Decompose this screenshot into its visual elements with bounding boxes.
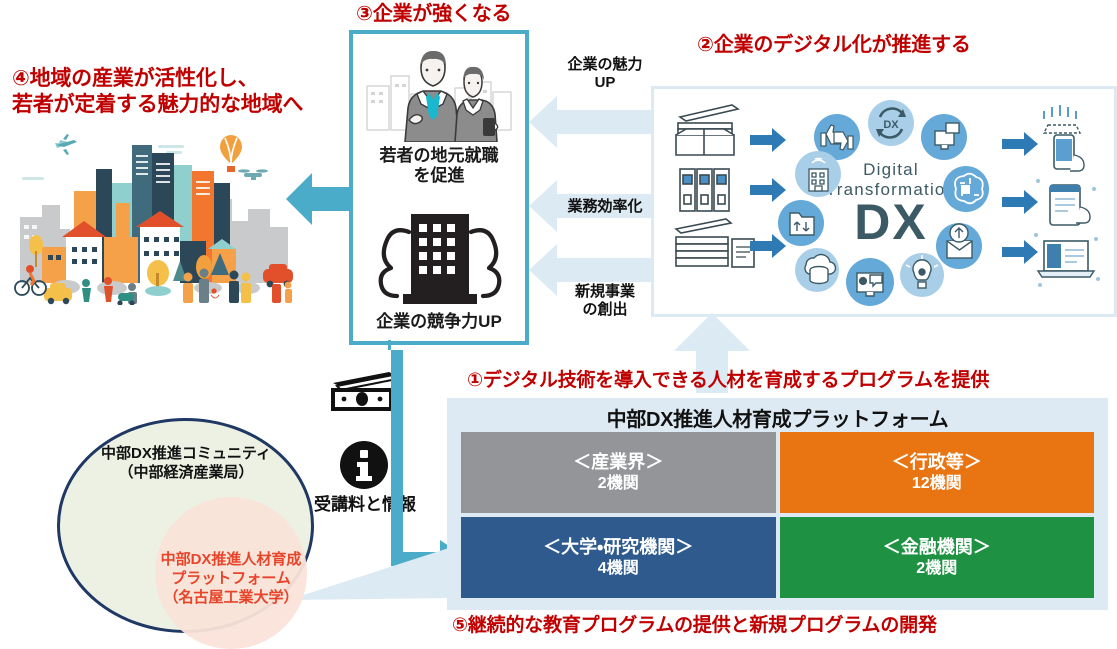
- heading-3: ③企業が強くなる: [356, 2, 511, 26]
- circle-platform-label: 中部DX推進人材育成 プラットフォーム （名古屋工業大学）: [120, 551, 342, 607]
- heading-5: ⑤継続的な教育プログラムの提供と新規プログラムの開発: [452, 614, 937, 637]
- platform-cells: ＜産業界＞ 2機関 ＜行政等＞ 12機関 ＜大学・研究機関＞ 4機関 ＜金融機関…: [447, 432, 1108, 608]
- business-people-svg: [363, 42, 515, 142]
- info-icon-svg: [339, 440, 389, 490]
- dx-word-big: DX: [854, 194, 927, 250]
- heading-1: ①デジタル技術を導入できる人材を育成するプログラムを提供: [467, 369, 989, 392]
- arrow-appeal-up-svg: [529, 96, 665, 148]
- dx-panel: Digital Transformation DX DX: [651, 86, 1117, 317]
- platform-cell-university[interactable]: ＜大学・研究機関＞ 4機関: [461, 517, 776, 598]
- arrow-to-city-svg: [284, 165, 352, 233]
- city-illustration-svg: [8, 125, 300, 305]
- business-people-illustration: [363, 42, 515, 142]
- city-illustration: [8, 125, 300, 305]
- platform-title: 中部DX推進人材育成プラットフォーム: [447, 398, 1108, 432]
- cell-count: 2機関: [598, 474, 639, 493]
- cell-count: 12機関: [912, 474, 962, 493]
- heading-2: ②企業のデジタル化が推進する: [697, 33, 971, 57]
- label-appeal-up: 企業の魅力 UP: [545, 56, 665, 93]
- dx-badge-label: DX: [883, 119, 899, 131]
- label-efficiency: 業務効率化: [545, 198, 665, 216]
- platform-cell-industry[interactable]: ＜産業界＞ 2機関: [461, 432, 776, 513]
- dx-word-top: Digital: [863, 160, 919, 179]
- dx-illustration-svg: Digital Transformation DX DX: [654, 89, 1114, 314]
- cell-count: 4機関: [598, 559, 639, 578]
- label-new-business: 新規事業 の創出: [545, 283, 665, 320]
- muscle-building-svg: [375, 206, 505, 306]
- info-icon: [339, 440, 389, 490]
- arrow-appeal-up: [529, 96, 665, 148]
- box-companies-stronger: 若者の地元就職 を促進 企業の競争力UP: [349, 30, 529, 345]
- muscle-building-icon: [375, 206, 505, 306]
- platform-panel: 中部DX推進人材育成プラットフォーム ＜産業界＞ 2機関 ＜行政等＞ 12機関 …: [447, 398, 1108, 610]
- cell-name: ＜金融機関＞: [883, 537, 991, 559]
- heading-4: ④地域の産業が活性化し、 若者が定着する魅力的な地域へ: [12, 66, 303, 117]
- circle-community-label: 中部DX推進コミュニティ （中部経済産業局）: [55, 445, 317, 483]
- platform-cell-finance[interactable]: ＜金融機関＞ 2機関: [780, 517, 1095, 598]
- box3-caption-top: 若者の地元就職 を促進: [353, 146, 525, 186]
- cell-count: 2機関: [916, 559, 957, 578]
- cell-name: ＜行政等＞: [892, 452, 982, 474]
- cell-name: ＜大学・研究機関＞: [543, 537, 693, 559]
- box3-caption-bottom: 企業の競争力UP: [353, 312, 525, 332]
- arrow-to-city: [284, 165, 352, 233]
- cell-name: ＜産業界＞: [573, 452, 663, 474]
- platform-cell-government[interactable]: ＜行政等＞ 12機関: [780, 432, 1095, 513]
